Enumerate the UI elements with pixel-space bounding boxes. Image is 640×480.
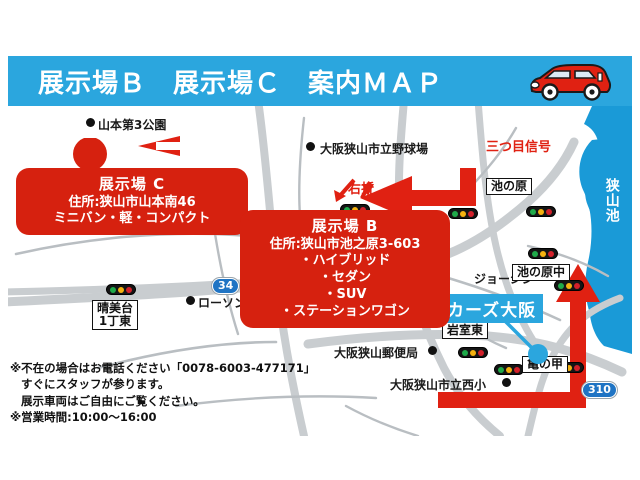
callout-b-address: 住所:狭山市池之原3-603 [250,237,440,254]
route-shield-310: 310 [582,382,617,398]
signal-box-ikenohara-naka: 池の原中 [512,264,570,281]
annotation-turn-right: 右折 [348,178,374,197]
signal-box-harumidai-line2: 1丁東 [97,315,133,328]
annotation-third-signal: 三つ目信号 [486,136,551,155]
label-post-office: 大阪狭山郵便局 [334,344,418,361]
note-line-4: ※営業時間:10:00〜16:00 [10,409,340,425]
label-lawson: ローソン [198,294,246,311]
marker-nishi-elementary [502,378,511,387]
callout-c-line-0: ミニバン・軽・コンパクト [26,211,238,228]
signal-box-harumidai: 晴美台 1丁東 [92,300,138,330]
callout-b-name: 展示場 B [250,217,440,237]
traffic-signal-ikenohara-west [448,208,478,219]
callout-showroom-c: 展示場 C 住所:狭山市山本南46 ミニバン・軽・コンパクト [16,168,248,235]
callout-b-line-3: ・ステーションワゴン [250,304,440,321]
marker-yamamoto-park [86,118,95,127]
note-line-1: ※不在の場合はお電話ください「0078-6003-477171」 [10,360,340,376]
callout-b-line-0: ・ハイブリッド [250,253,440,270]
label-sayama-pond: 狭山池 [604,178,619,223]
map-flyer: 展示場Ｂ 展示場Ｃ 案内ＭＡＰ [0,0,640,480]
note-line-2: すぐにスタッフが参ります。 [10,376,340,392]
callout-b-line-1: ・セダン [250,270,440,287]
traffic-signal-harumidai [106,284,136,295]
notes-block: ※不在の場合はお電話ください「0078-6003-477171」 すぐにスタッフ… [10,360,340,425]
red-car-icon [526,61,614,103]
callout-showroom-b: 展示場 B 住所:狭山市池之原3-603 ・ハイブリッド ・セダン ・SUV ・… [240,210,450,328]
route-shield-34: 34 [212,278,239,294]
traffic-signal-ikenohara-naka [528,248,558,259]
note-line-3: 展示車両はご自由にご覧ください。 [10,393,340,409]
header-banner: 展示場Ｂ 展示場Ｃ 案内ＭＡＰ [8,56,632,106]
signal-box-harumidai-line1: 晴美台 [97,302,133,315]
traffic-signal-joshin [554,280,584,291]
marker-baseball-stadium [306,142,315,151]
label-yamamoto-park: 山本第3公園 [98,116,166,133]
traffic-signal-kamenoko-west [494,364,524,375]
page-title: 展示場Ｂ 展示場Ｃ 案内ＭＡＰ [38,63,443,100]
marker-lawson [186,296,195,305]
marker-post-office [428,346,437,355]
label-baseball-stadium: 大阪狭山市立野球場 [320,140,428,157]
destination-pointer [494,314,564,364]
callout-c-address: 住所:狭山市山本南46 [26,195,238,212]
label-nishi-elementary: 大阪狭山市立西小 [390,376,486,393]
signal-box-iwamuro-east: 岩室東 [442,322,488,339]
callout-c-name: 展示場 C [26,175,238,195]
traffic-signal-ikenohara [526,206,556,217]
signal-box-ikenohara: 池の原 [486,178,532,195]
callout-b-line-2: ・SUV [250,287,440,304]
traffic-signal-iwamuro-east [458,347,488,358]
